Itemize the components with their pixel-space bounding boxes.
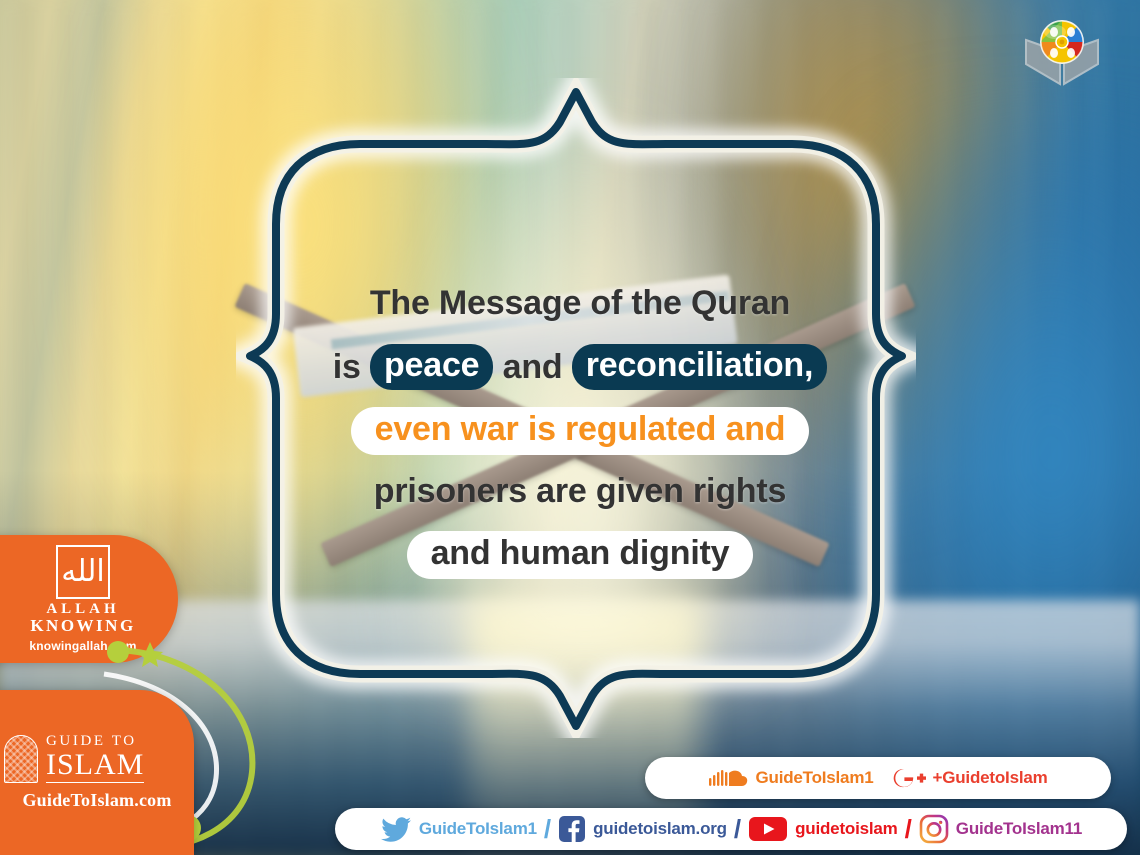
quote-line-3: even war is regulated and bbox=[250, 398, 910, 460]
separator-3: / bbox=[905, 816, 912, 842]
guide-to-islam-logo-row: GUIDE TO ISLAM bbox=[4, 734, 190, 783]
googleplus-handle: +GuidetoIslam bbox=[933, 768, 1048, 788]
highlight-peace: peace bbox=[370, 344, 493, 390]
soundcloud-icon bbox=[708, 767, 748, 789]
youtube-icon bbox=[748, 815, 788, 843]
social-link-youtube[interactable]: guidetoislam bbox=[748, 815, 897, 843]
separator-1: / bbox=[544, 816, 551, 842]
quote-line-2-mid: and bbox=[503, 348, 563, 386]
knowing-allah-line-2: KNOWING bbox=[8, 616, 158, 636]
instagram-icon bbox=[919, 814, 949, 844]
social-link-googleplus[interactable]: +GuidetoIslam bbox=[892, 766, 1048, 790]
quote-line-1: The Message of the Quran bbox=[250, 272, 910, 334]
social-link-instagram[interactable]: GuideToIslam11 bbox=[919, 814, 1082, 844]
guide-to-islam-line-1: GUIDE TO bbox=[46, 734, 144, 749]
quote-block: The Message of the Quran is peace and re… bbox=[250, 272, 910, 584]
quote-line-4: prisoners are given rights bbox=[250, 460, 910, 522]
highlight-reconciliation: reconciliation, bbox=[572, 344, 828, 390]
social-bar-bottom: GuideToIslam1 / guidetoislam.org / guide… bbox=[335, 808, 1127, 850]
guide-to-islam-globe-book-emblem bbox=[1014, 12, 1110, 92]
guide-to-islam-badge[interactable]: GUIDE TO ISLAM GuideToIslam.com bbox=[0, 690, 194, 855]
mosque-arch-icon bbox=[4, 735, 38, 783]
quote-line-2-pre: is bbox=[333, 348, 361, 386]
youtube-handle: guidetoislam bbox=[795, 819, 897, 839]
twitter-icon bbox=[380, 816, 412, 842]
social-link-twitter[interactable]: GuideToIslam1 bbox=[380, 816, 537, 842]
knowing-allah-badge-content: الله ALLAH KNOWING knowingallah.com bbox=[8, 545, 158, 653]
guide-to-islam-url[interactable]: GuideToIslam.com bbox=[4, 790, 190, 811]
separator-2: / bbox=[734, 816, 741, 842]
twitter-handle: GuideToIslam1 bbox=[419, 819, 537, 839]
social-link-soundcloud[interactable]: GuideToIslam1 bbox=[708, 767, 873, 789]
poster-canvas: The Message of the Quran is peace and re… bbox=[0, 0, 1140, 855]
google-plus-icon bbox=[892, 766, 926, 790]
highlight-human-dignity: and human dignity bbox=[407, 531, 754, 579]
facebook-handle: guidetoislam.org bbox=[593, 819, 727, 839]
instagram-handle: GuideToIslam11 bbox=[956, 819, 1082, 839]
social-link-facebook[interactable]: guidetoislam.org bbox=[558, 815, 727, 843]
highlight-even-war: even war is regulated and bbox=[351, 407, 810, 455]
facebook-icon bbox=[558, 815, 586, 843]
allah-calligraphy-mark: الله bbox=[56, 545, 110, 599]
knowing-allah-url[interactable]: knowingallah.com bbox=[8, 639, 158, 653]
knowing-allah-badge[interactable]: الله ALLAH KNOWING knowingallah.com bbox=[0, 535, 178, 663]
soundcloud-handle: GuideToIslam1 bbox=[755, 768, 873, 788]
guide-to-islam-badge-content: GUIDE TO ISLAM GuideToIslam.com bbox=[4, 734, 190, 811]
quote-line-5: and human dignity bbox=[250, 522, 910, 584]
quote-line-2: is peace and reconciliation, bbox=[250, 334, 910, 398]
social-bar-top: GuideToIslam1 +GuidetoIslam bbox=[645, 757, 1111, 799]
guide-to-islam-wordmark: GUIDE TO ISLAM bbox=[46, 734, 144, 783]
guide-to-islam-line-2: ISLAM bbox=[46, 750, 144, 783]
